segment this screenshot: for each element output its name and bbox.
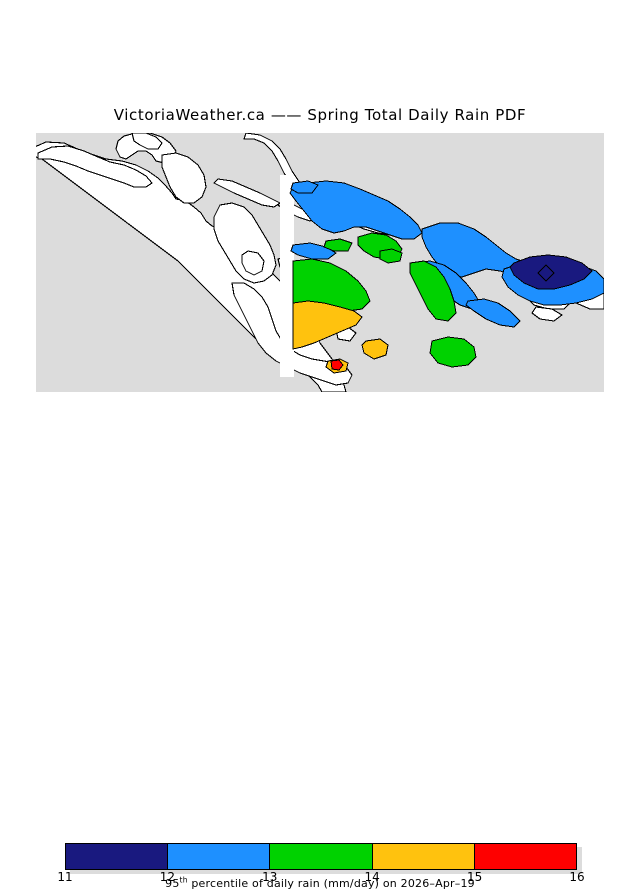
colorbar-band-11–12[interactable] [66,844,168,869]
colorbar-band-15–16[interactable] [475,844,576,869]
page-title: VictoriaWeather.ca —— Spring Total Daily… [0,106,640,124]
domain-left-margin [280,175,294,377]
colorbar-band-13–14[interactable] [270,844,372,869]
caption-ordinal-suffix: th [180,875,188,884]
colorbar-band-12–13[interactable] [168,844,270,869]
colorbar-caption: 95th percentile of daily rain (mm/day) o… [0,877,640,890]
colorbar-bands[interactable] [65,843,577,870]
map-canvas[interactable] [36,133,604,392]
caption-percentile-number: 95 [165,877,179,890]
colorbar-band-14–15[interactable] [373,844,475,869]
caption-rest: percentile of daily rain (mm/day) on 202… [188,877,475,890]
colorbar-legend[interactable]: 111213141516 95th percentile of daily ra… [0,418,640,480]
map-panel[interactable] [36,133,604,392]
